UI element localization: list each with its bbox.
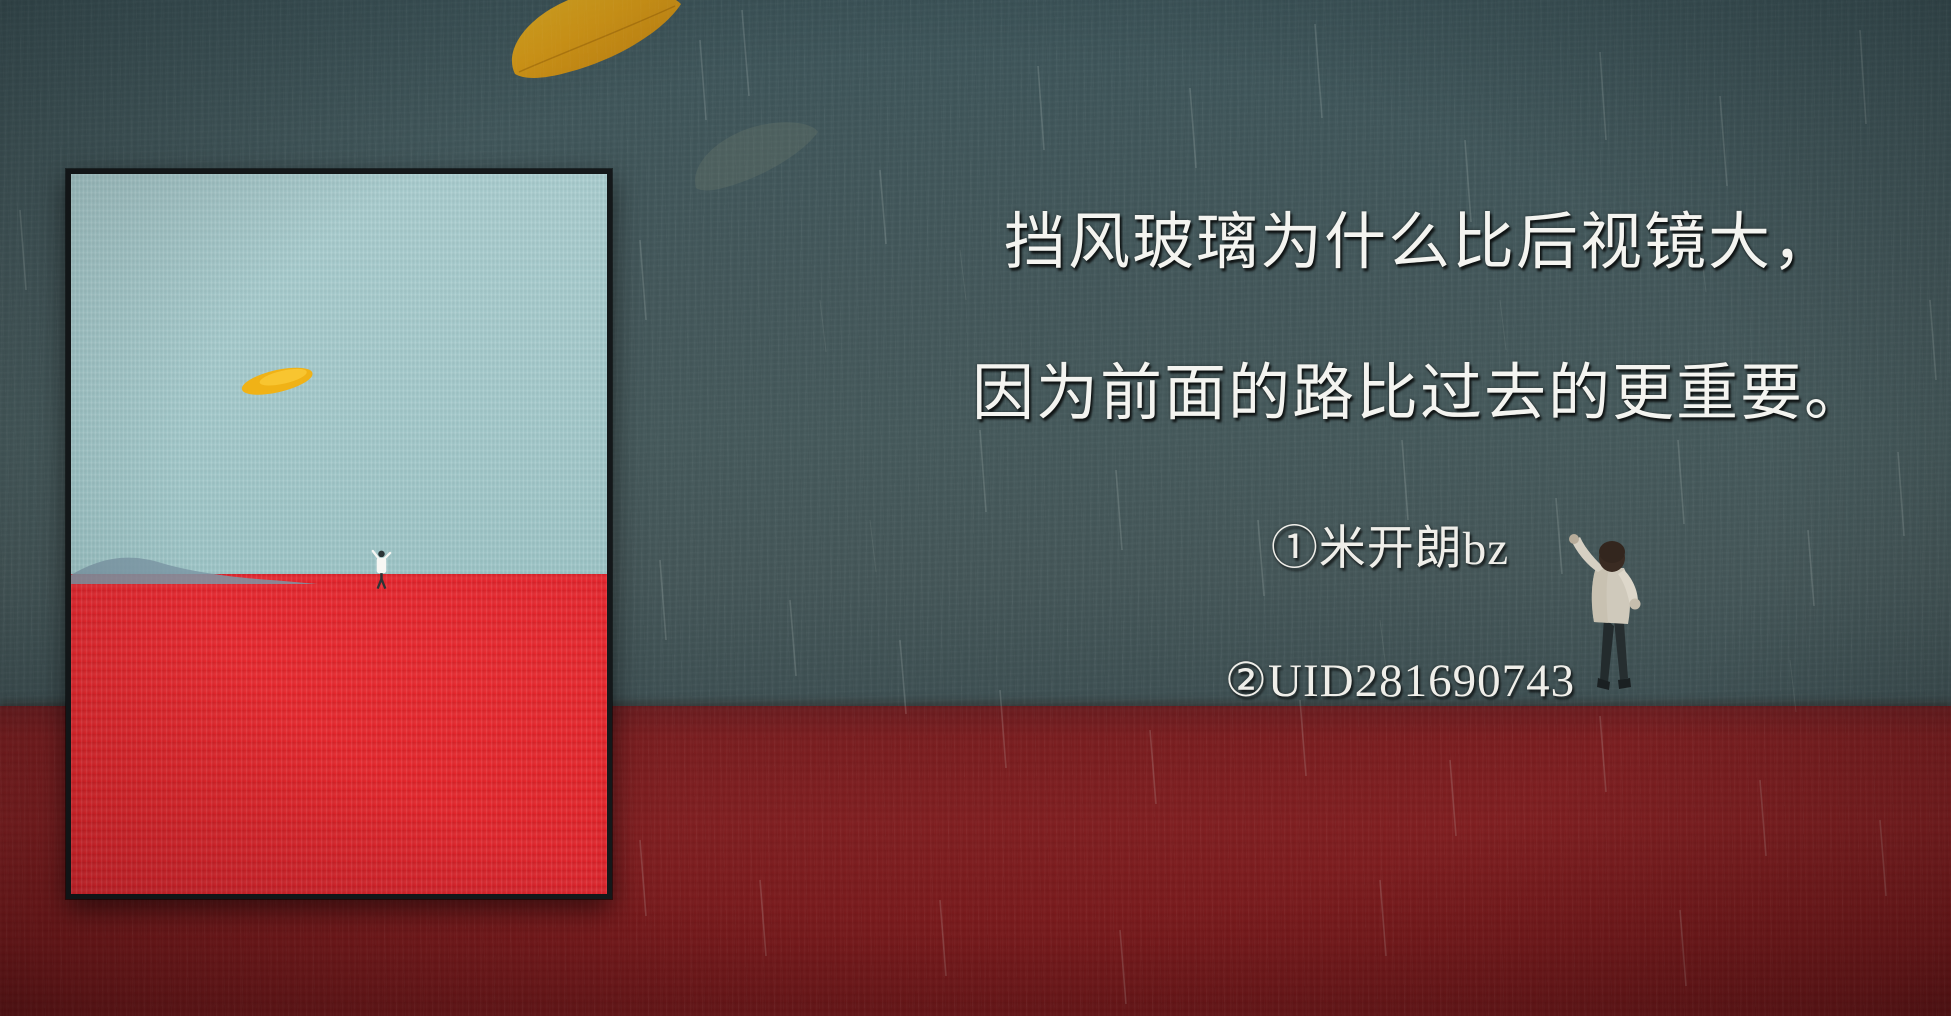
painting-sky <box>71 174 607 574</box>
framed-painting <box>66 169 612 899</box>
credit-line-2: ②UID281690743 <box>940 656 1860 708</box>
painting-canvas <box>71 174 607 894</box>
painting-red-ground <box>71 574 607 894</box>
quote-line-2: 因为前面的路比过去的更重要。 <box>940 361 1900 428</box>
quote-text-block: 挡风玻璃为什么比后视镜大， 因为前面的路比过去的更重要。 ①米开朗bz ②UID… <box>940 210 1900 707</box>
scene-canvas: 挡风玻璃为什么比后视镜大， 因为前面的路比过去的更重要。 ①米开朗bz ②UID… <box>0 0 1951 1016</box>
credit-line-1: ①米开朗bz <box>940 524 1840 576</box>
quote-line-1: 挡风玻璃为什么比后视镜大， <box>940 210 1900 277</box>
